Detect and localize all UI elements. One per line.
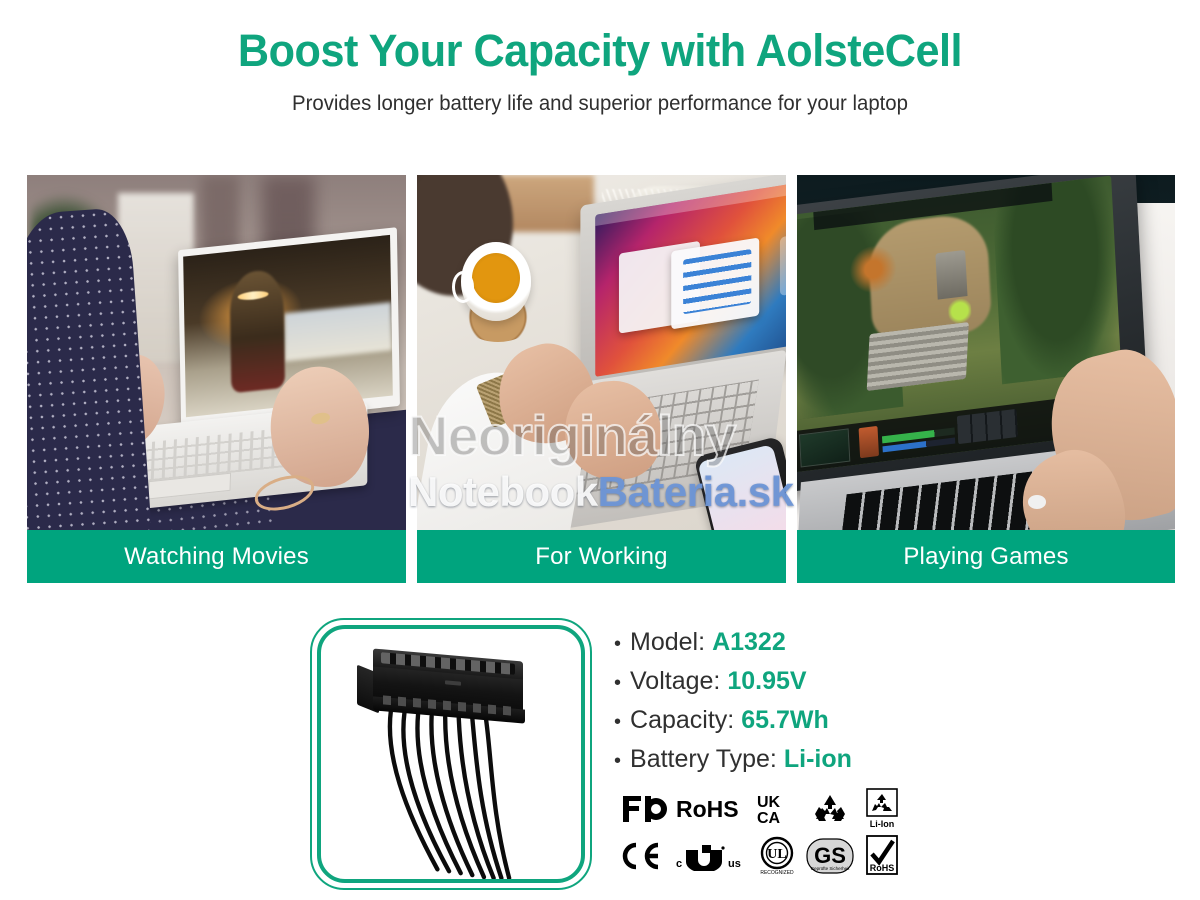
ce-icon [616,841,672,871]
usecase-gallery: Watching Movies [0,175,1200,585]
svg-text:RoHS: RoHS [676,796,739,822]
ul-icon: UL RECOGNIZED [752,835,802,877]
recycle-icon [802,793,858,825]
rohs-check-icon: RoHS [858,835,906,877]
svg-text:us: us [728,858,741,870]
usecase-caption-for-working: For Working [417,530,786,583]
spec-value-model: A1322 [712,628,786,657]
usecase-card-for-working: For Working [417,175,786,583]
page-title: Boost Your Capacity with AolsteCell [24,26,1176,76]
spec-row-battery-type: • Battery Type: Li-ion [614,745,944,774]
ukca-icon: UK CA [752,792,802,826]
usecase-card-playing-games: Playing Games [797,175,1175,583]
spec-label-voltage: Voltage: [630,667,720,696]
svg-text:UK: UK [757,794,781,811]
bullet-icon: • [614,712,621,732]
product-details-section: • Model: A1322 • Voltage: 10.95V • Capac… [0,610,1200,900]
svg-text:c: c [676,858,682,870]
spec-label-capacity: Capacity: [630,706,734,735]
usecase-photo-watching-movies [27,175,406,530]
gs-icon: GS Geprüfte Sicherheit [802,837,858,875]
spec-label-model: Model: [630,628,705,657]
usecase-photo-playing-games [797,175,1175,530]
svg-text:RECOGNIZED: RECOGNIZED [760,870,794,876]
product-image-frame [310,618,592,890]
fcc-icon [616,794,672,824]
certification-row-1: RoHS UK CA [616,785,916,832]
c-ul-us-icon: c us [672,841,752,871]
usecase-caption-watching-movies: Watching Movies [27,530,406,583]
svg-text:Geprüfte Sicherheit: Geprüfte Sicherheit [811,866,851,871]
certification-badges: RoHS UK CA [616,785,916,879]
rohs-icon: RoHS [672,796,752,822]
usecase-card-watching-movies: Watching Movies [27,175,406,583]
svg-text:CA: CA [757,810,781,826]
product-banner: Boost Your Capacity with AolsteCell Prov… [0,0,1200,900]
certification-row-2: c us UL RECOGNIZED [616,832,916,879]
usecase-caption-playing-games: Playing Games [797,530,1175,583]
bullet-icon: • [614,751,621,771]
li-ion-recycle-icon: Li-Ion [858,788,906,830]
page-subtitle: Provides longer battery life and superio… [18,92,1182,116]
spec-label-battery-type: Battery Type: [630,745,777,774]
spec-value-voltage: 10.95V [727,667,806,696]
spec-row-capacity: • Capacity: 65.7Wh [614,706,944,735]
spec-row-model: • Model: A1322 [614,628,944,657]
spec-list: • Model: A1322 • Voltage: 10.95V • Capac… [614,628,944,784]
bullet-icon: • [614,673,621,693]
header: Boost Your Capacity with AolsteCell Prov… [0,0,1200,116]
svg-text:Li-Ion: Li-Ion [870,819,895,829]
bullet-icon: • [614,634,621,654]
product-image [317,625,585,883]
spec-value-capacity: 65.7Wh [741,706,829,735]
svg-text:UL: UL [767,847,786,862]
svg-text:GS: GS [814,843,846,868]
svg-text:RoHS: RoHS [870,863,895,873]
spec-row-voltage: • Voltage: 10.95V [614,667,944,696]
usecase-photo-for-working [417,175,786,530]
spec-value-battery-type: Li-ion [784,745,852,774]
